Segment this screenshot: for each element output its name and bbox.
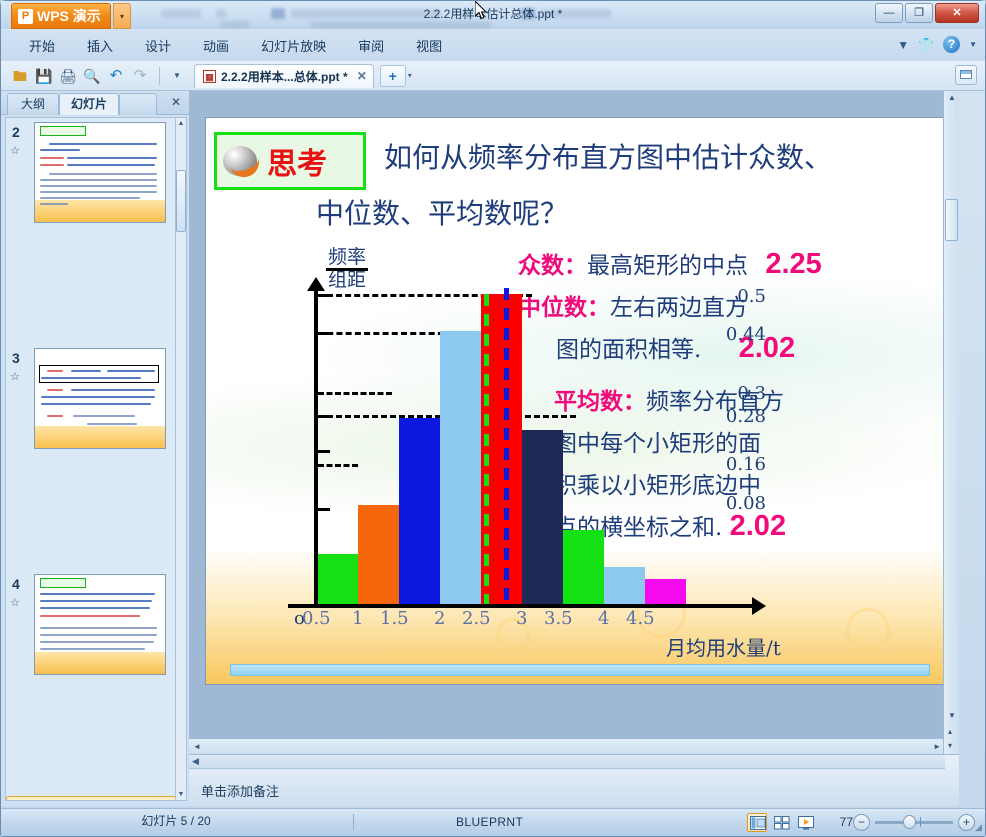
- notes-pane[interactable]: ◀ 单击添加备注: [189, 754, 959, 806]
- slide-navigator-panel: 大纲 幻灯片 ✕ 2 ☆: [1, 91, 189, 806]
- window-layout-icon[interactable]: [955, 65, 977, 85]
- new-tab-dropdown-icon[interactable]: ▾: [408, 71, 412, 80]
- mouse-cursor: [475, 1, 487, 20]
- slide-canvas[interactable]: 思考 如何从频率分布直方图中估计众数、 中位数、平均数呢？ 众数：最高矩形的中点…: [205, 117, 955, 685]
- toolbar-divider: [159, 67, 160, 85]
- decorative-swirl: [846, 608, 890, 652]
- window-title: 2.2.2用样本估计总体.ppt *: [1, 5, 985, 22]
- slide-counter: 幻灯片 5 / 20: [1, 812, 351, 829]
- scrollbar-thumb[interactable]: [176, 170, 186, 232]
- x-tick-label: 1: [352, 608, 363, 629]
- undo-icon[interactable]: ↶: [105, 65, 127, 87]
- thumbnail-slide-5[interactable]: 5 ☆: [6, 796, 176, 801]
- scroll-down-icon[interactable]: ▼: [948, 711, 956, 720]
- status-divider: [353, 814, 354, 830]
- ribbon-tabs: 开始 插入 设计 动画 幻灯片放映 审阅 视图: [13, 29, 458, 62]
- tab-insert[interactable]: 插入: [71, 29, 129, 62]
- question-line-2: 中位数、平均数呢？: [316, 192, 568, 232]
- x-tick-label: 4: [598, 608, 609, 629]
- think-label: 思考: [267, 139, 327, 183]
- tab-review[interactable]: 审阅: [342, 29, 400, 62]
- print-preview-icon[interactable]: 🔍: [81, 65, 103, 87]
- document-tab[interactable]: ▦ 2.2.2用样本...总体.ppt * ✕: [194, 64, 374, 88]
- mean-marker-line: [504, 288, 509, 604]
- bar-7: [604, 567, 645, 604]
- decorative-blue-bar: [230, 664, 930, 676]
- theme-name: BLUEPRNT: [456, 815, 523, 829]
- bar-group: [318, 288, 758, 604]
- tab-slideshow[interactable]: 幻灯片放映: [245, 29, 342, 62]
- panel-close-icon[interactable]: ✕: [171, 95, 181, 109]
- notes-splitter[interactable]: ◀: [189, 755, 945, 769]
- zoom-out-button[interactable]: −: [853, 814, 870, 831]
- thumbnail-slide-4[interactable]: 4 ☆: [6, 570, 176, 683]
- title-bar: P WPS 演示 ▾ 2.2.2用样本估计总体.ppt * — ❐ ✕: [1, 1, 985, 29]
- slide-editing-area: 思考 如何从频率分布直方图中估计众数、 中位数、平均数呢？ 众数：最高矩形的中点…: [189, 91, 959, 754]
- view-buttons: [747, 813, 815, 832]
- mode-key: 众数：: [518, 252, 587, 279]
- dropdown-arrow-icon[interactable]: ▼: [969, 40, 977, 49]
- horizontal-scrollbar[interactable]: ◄ ►: [189, 738, 945, 754]
- zoom-slider-group: − +: [853, 814, 975, 831]
- bar-3: [440, 331, 481, 604]
- thumbnail-number: 3: [12, 350, 20, 366]
- slideshow-icon[interactable]: [795, 813, 815, 832]
- tab-animation[interactable]: 动画: [187, 29, 245, 62]
- tab-home[interactable]: 开始: [13, 29, 71, 62]
- tab-extra[interactable]: [119, 93, 157, 115]
- animation-star-icon: ☆: [10, 596, 20, 609]
- frequency-histogram: 频率 组距 o 0.5 0.44 0.3 0.28 0.16: [246, 288, 766, 648]
- help-icon[interactable]: ?: [943, 36, 960, 53]
- chevron-down-icon[interactable]: ▼: [897, 38, 909, 52]
- slide-sorter-icon[interactable]: [771, 813, 791, 832]
- window-controls: — ❐ ✕: [875, 3, 979, 23]
- scroll-left-icon[interactable]: ◄: [193, 742, 201, 751]
- document-tab-label: 2.2.2用样本...总体.ppt *: [221, 68, 348, 85]
- scrollbar-thumb[interactable]: [945, 199, 958, 241]
- close-button[interactable]: ✕: [935, 3, 979, 23]
- mode-value: 2.25: [765, 248, 821, 280]
- zoom-slider-track[interactable]: [875, 821, 953, 824]
- ribbon-right-controls: ▼ 👕 ? ▼: [897, 36, 977, 53]
- vertical-scrollbar[interactable]: ▲ ▼ ▴ ▾: [943, 91, 959, 754]
- x-axis-label: 月均用水量/t: [666, 632, 781, 661]
- normal-view-icon[interactable]: [747, 813, 767, 832]
- status-bar: 幻灯片 5 / 20 BLUEPRNT 77 % − + ◢: [1, 808, 985, 836]
- y-axis-label: 频率 组距: [326, 248, 368, 290]
- print-icon[interactable]: 🖨: [57, 65, 79, 87]
- tab-slides[interactable]: 幻灯片: [59, 93, 119, 115]
- previous-slide-icon[interactable]: ▴: [948, 727, 952, 736]
- thumbnail-number: 4: [12, 576, 20, 592]
- minimize-button[interactable]: —: [875, 3, 903, 23]
- animation-star-icon: ☆: [10, 144, 20, 157]
- x-tick-label: 1.5: [380, 608, 409, 629]
- mode-text: 最高矩形的中点: [587, 253, 748, 279]
- animation-star-icon: ☆: [10, 370, 20, 383]
- new-tab-button[interactable]: +: [380, 65, 406, 87]
- scroll-up-icon[interactable]: ▲: [176, 118, 186, 129]
- x-tick-label: 2: [434, 608, 445, 629]
- slide-thumbnail-list[interactable]: 2 ☆: [5, 117, 177, 801]
- redo-icon[interactable]: ↷: [129, 65, 151, 87]
- thumbnail-slide-2[interactable]: 2 ☆: [6, 118, 176, 231]
- zoom-slider-thumb[interactable]: [903, 815, 916, 829]
- tab-view[interactable]: 视图: [400, 29, 458, 62]
- quick-access-toolbar: 🖿 💾 🖨 🔍 ↶ ↷ ▼ ▦ 2.2.2用样本...总体.ppt * ✕ + …: [1, 61, 985, 91]
- shirt-icon[interactable]: 👕: [918, 37, 934, 52]
- customize-icon[interactable]: ▼: [166, 65, 188, 87]
- next-slide-icon[interactable]: ▾: [948, 741, 952, 750]
- bar-0: [318, 554, 358, 604]
- scroll-right-icon[interactable]: ►: [933, 742, 941, 751]
- maximize-button[interactable]: ❐: [905, 3, 933, 23]
- x-tick-label: 2.5: [462, 608, 491, 629]
- x-tick-label: 3.5: [544, 608, 573, 629]
- zoom-in-button[interactable]: +: [958, 814, 975, 831]
- thumbnail-number: 2: [12, 124, 20, 140]
- wps-presentation-window: P WPS 演示 ▾ 2.2.2用样本估计总体.ppt * — ❐ ✕ 开始 插…: [0, 0, 986, 837]
- scroll-up-icon[interactable]: ▲: [948, 93, 956, 102]
- think-callout: 思考: [214, 132, 366, 190]
- panel-tab-bar: 大纲 幻灯片 ✕: [1, 91, 189, 115]
- bar-5: [522, 430, 563, 604]
- collapse-icon[interactable]: ◀: [192, 756, 199, 767]
- save-icon[interactable]: 💾: [33, 65, 55, 87]
- notes-placeholder[interactable]: 单击添加备注: [201, 781, 279, 800]
- mode-line: 众数：最高矩形的中点 2.25: [518, 246, 822, 281]
- ribbon-tab-bar: 开始 插入 设计 动画 幻灯片放映 审阅 视图 ▼ 👕 ? ▼: [1, 29, 985, 61]
- thumbnail-slide-3[interactable]: 3 ☆: [6, 344, 176, 457]
- question-line-1: 如何从频率分布直方图中估计众数、: [384, 136, 832, 176]
- scroll-down-icon[interactable]: ▼: [176, 789, 186, 800]
- sphere-icon: [223, 146, 257, 176]
- thumbnail-preview: [34, 122, 166, 223]
- tab-design[interactable]: 设计: [129, 29, 187, 62]
- thumbnail-preview: [34, 574, 166, 675]
- x-tick-label: 4.5: [626, 608, 655, 629]
- y-axis-label-top: 频率: [326, 248, 368, 271]
- presentation-file-icon: ▦: [203, 70, 216, 83]
- open-icon[interactable]: 🖿: [9, 65, 31, 87]
- bar-2: [399, 418, 440, 604]
- bar-1: [358, 505, 399, 604]
- resize-grip-icon[interactable]: ◢: [975, 822, 982, 833]
- thumbnail-preview: [34, 348, 166, 449]
- x-tick-label: 3: [516, 608, 527, 629]
- bar-8: [645, 579, 686, 604]
- thumbnail-scrollbar[interactable]: ▲ ▼: [175, 117, 187, 801]
- tab-outline[interactable]: 大纲: [7, 93, 59, 115]
- zoom-slider-tick: [920, 817, 921, 827]
- close-icon[interactable]: ✕: [357, 69, 367, 83]
- bar-6: [563, 530, 604, 604]
- x-tick-label: 0.5: [302, 608, 331, 629]
- median-marker-line: [484, 294, 489, 604]
